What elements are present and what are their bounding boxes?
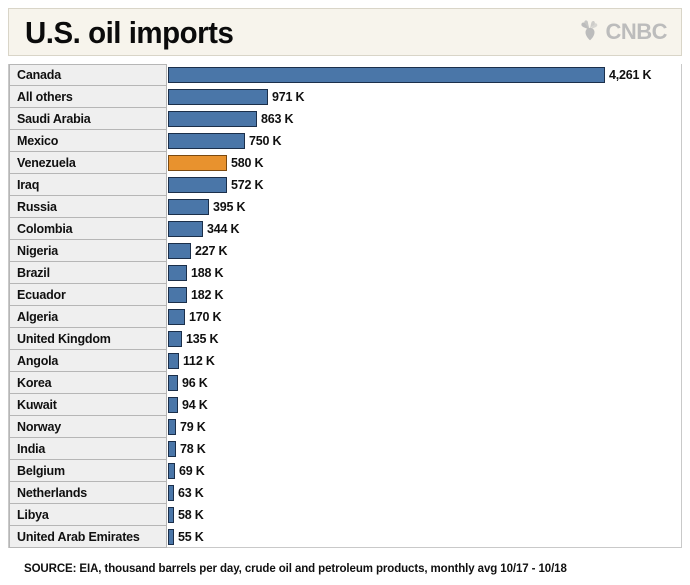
bar — [168, 441, 176, 457]
bar-plot-cell: 170 K — [167, 306, 683, 328]
source-note: SOURCE: EIA, thousand barrels per day, c… — [24, 563, 567, 575]
bar-plot-cell: 580 K — [167, 152, 683, 174]
bar-category-label: Libya — [9, 504, 167, 526]
bar — [168, 243, 191, 259]
bar — [168, 67, 605, 83]
bar — [168, 89, 268, 105]
table-row: Ecuador182 K — [9, 284, 683, 306]
bar-value-label: 94 K — [182, 398, 208, 412]
bar-plot-cell: 63 K — [167, 482, 683, 504]
bar-plot-cell: 971 K — [167, 86, 683, 108]
bar-plot-cell: 135 K — [167, 328, 683, 350]
bar-category-label: Korea — [9, 372, 167, 394]
bar — [168, 287, 187, 303]
chart-page: U.S. oil imports CNBC Canada4,261 KAll o… — [0, 0, 690, 585]
bar — [168, 221, 203, 237]
bar-chart-rows: Canada4,261 KAll others971 KSaudi Arabia… — [9, 64, 683, 548]
bar-category-label: Iraq — [9, 174, 167, 196]
bar-category-label: Algeria — [9, 306, 167, 328]
table-row: Canada4,261 K — [9, 64, 683, 86]
table-row: Algeria170 K — [9, 306, 683, 328]
bar — [168, 485, 174, 501]
table-row: United Kingdom135 K — [9, 328, 683, 350]
bar-value-label: 63 K — [178, 486, 204, 500]
table-row: Brazil188 K — [9, 262, 683, 284]
bar — [168, 375, 178, 391]
bar-value-label: 4,261 K — [609, 68, 651, 82]
table-row: All others971 K — [9, 86, 683, 108]
page-title: U.S. oil imports — [25, 17, 233, 48]
table-row: Saudi Arabia863 K — [9, 108, 683, 130]
bar — [168, 507, 174, 523]
bar-category-label: Russia — [9, 196, 167, 218]
table-row: Colombia344 K — [9, 218, 683, 240]
bar-category-label: United Arab Emirates — [9, 526, 167, 548]
bar-category-label: Angola — [9, 350, 167, 372]
bar-plot-cell: 96 K — [167, 372, 683, 394]
table-row: Libya58 K — [9, 504, 683, 526]
bar-plot-cell: 4,261 K — [167, 64, 683, 86]
nbc-peacock-icon — [579, 19, 601, 46]
bar-category-label: Venezuela — [9, 152, 167, 174]
table-row: Nigeria227 K — [9, 240, 683, 262]
bar-category-label: Saudi Arabia — [9, 108, 167, 130]
chart-body: Canada4,261 KAll others971 KSaudi Arabia… — [8, 64, 682, 548]
bar-category-label: Netherlands — [9, 482, 167, 504]
bar-value-label: 971 K — [272, 90, 304, 104]
bar — [168, 463, 175, 479]
bar-value-label: 78 K — [180, 442, 206, 456]
bar — [168, 529, 174, 545]
table-row: India78 K — [9, 438, 683, 460]
bar-plot-cell: 572 K — [167, 174, 683, 196]
bar-value-label: 750 K — [249, 134, 281, 148]
bar-category-label: India — [9, 438, 167, 460]
bar-value-label: 135 K — [186, 332, 218, 346]
cnbc-logo: CNBC — [579, 19, 667, 46]
bar-value-label: 188 K — [191, 266, 223, 280]
table-row: Mexico750 K — [9, 130, 683, 152]
bar-plot-cell: 69 K — [167, 460, 683, 482]
bar-value-label: 344 K — [207, 222, 239, 236]
bar-value-label: 112 K — [183, 354, 215, 368]
bar-value-label: 182 K — [191, 288, 223, 302]
table-row: Netherlands63 K — [9, 482, 683, 504]
bar — [168, 353, 179, 369]
bar — [168, 265, 187, 281]
bar-value-label: 227 K — [195, 244, 227, 258]
table-row: Belgium69 K — [9, 460, 683, 482]
bar-value-label: 69 K — [179, 464, 205, 478]
bar — [168, 419, 176, 435]
bar-plot-cell: 78 K — [167, 438, 683, 460]
table-row: Iraq572 K — [9, 174, 683, 196]
table-row: Korea96 K — [9, 372, 683, 394]
bar-plot-cell: 112 K — [167, 350, 683, 372]
bar-plot-cell: 227 K — [167, 240, 683, 262]
bar-value-label: 170 K — [189, 310, 221, 324]
bar-category-label: United Kingdom — [9, 328, 167, 350]
table-row: United Arab Emirates55 K — [9, 526, 683, 548]
bar-value-label: 572 K — [231, 178, 263, 192]
bar-value-label: 58 K — [178, 508, 204, 522]
bar — [168, 397, 178, 413]
bar-value-label: 55 K — [178, 530, 204, 544]
table-row: Venezuela580 K — [9, 152, 683, 174]
bar-value-label: 580 K — [231, 156, 263, 170]
cnbc-logo-text: CNBC — [605, 21, 667, 43]
bar-plot-cell: 188 K — [167, 262, 683, 284]
bar-plot-cell: 94 K — [167, 394, 683, 416]
bar-value-label: 863 K — [261, 112, 293, 126]
bar-plot-cell: 395 K — [167, 196, 683, 218]
bar — [168, 133, 245, 149]
table-row: Russia395 K — [9, 196, 683, 218]
bar-category-label: Belgium — [9, 460, 167, 482]
bar-plot-cell: 344 K — [167, 218, 683, 240]
bar — [168, 199, 209, 215]
bar-category-label: Mexico — [9, 130, 167, 152]
bar-category-label: Canada — [9, 64, 167, 86]
bar-highlighted — [168, 155, 227, 171]
table-row: Kuwait94 K — [9, 394, 683, 416]
bar-value-label: 96 K — [182, 376, 208, 390]
bar-category-label: Ecuador — [9, 284, 167, 306]
chart-header: U.S. oil imports CNBC — [8, 8, 682, 56]
bar-plot-cell: 55 K — [167, 526, 683, 548]
bar-plot-cell: 58 K — [167, 504, 683, 526]
bar-plot-cell: 79 K — [167, 416, 683, 438]
bar-category-label: Norway — [9, 416, 167, 438]
table-row: Norway79 K — [9, 416, 683, 438]
bar — [168, 331, 182, 347]
bar-category-label: Brazil — [9, 262, 167, 284]
bar-value-label: 395 K — [213, 200, 245, 214]
bar — [168, 177, 227, 193]
bar-plot-cell: 863 K — [167, 108, 683, 130]
bar-category-label: Kuwait — [9, 394, 167, 416]
bar — [168, 309, 185, 325]
bar-category-label: Colombia — [9, 218, 167, 240]
bar-plot-cell: 750 K — [167, 130, 683, 152]
table-row: Angola112 K — [9, 350, 683, 372]
bar — [168, 111, 257, 127]
bar-category-label: Nigeria — [9, 240, 167, 262]
bar-category-label: All others — [9, 86, 167, 108]
bar-plot-cell: 182 K — [167, 284, 683, 306]
bar-value-label: 79 K — [180, 420, 206, 434]
